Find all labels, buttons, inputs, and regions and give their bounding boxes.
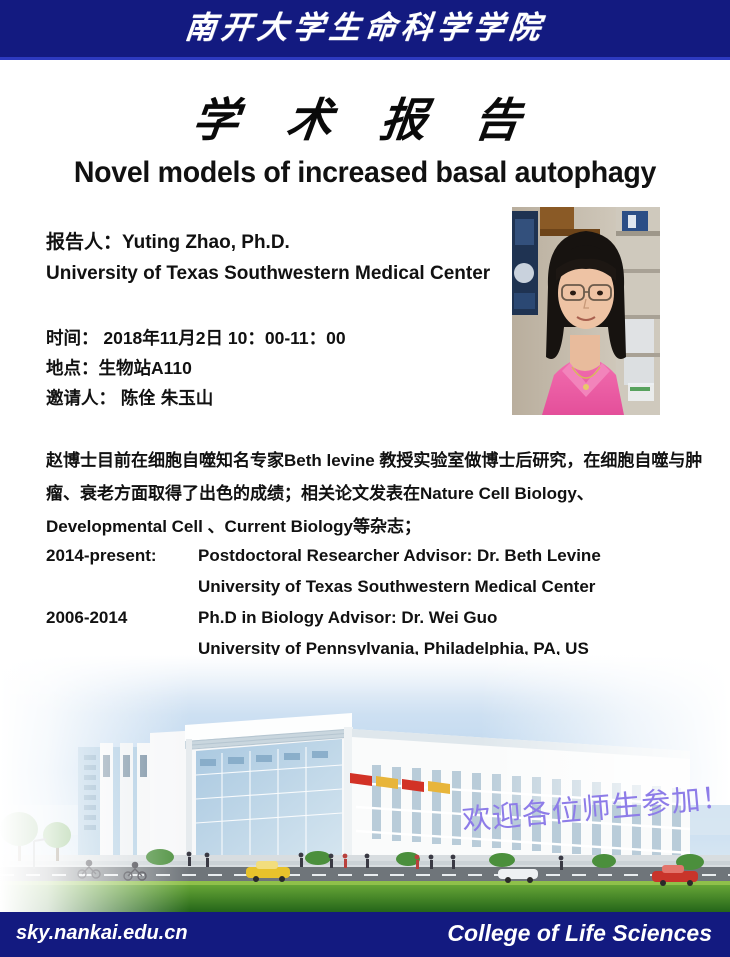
speaker-block: 报告人：Yuting Zhao, Ph.D. University of Tex… (46, 228, 516, 290)
cv-row: 2006-2014 Ph.D in Biology Advisor: Dr. W… (46, 602, 726, 633)
speaker-photo (512, 207, 660, 415)
cv-years: 2006-2014 (46, 602, 198, 633)
speaker-bio: 赵博士目前在细胞自噬知名专家Beth levine 教授实验室做博士后研究，在细… (46, 444, 706, 543)
cv-row: University of Texas Southwestern Medical… (46, 571, 726, 602)
footer-website-url[interactable]: sky.nankai.edu.cn (16, 922, 188, 945)
page-title: Novel models of increased basal autophag… (18, 156, 712, 190)
cv-years (46, 571, 198, 602)
event-details: 时间： 2018年11月2日 10：00-11：00 地点：生物站A110 邀请… (46, 323, 516, 413)
footer-bar: sky.nankai.edu.cn College of Life Scienc… (0, 912, 730, 957)
institution-title: 南开大学生命科学学院 (0, 6, 730, 50)
event-location: 地点：生物站A110 (46, 353, 516, 383)
cv-years: 2014-present: (46, 540, 198, 571)
cv-text: Ph.D in Biology Advisor: Dr. Wei Guo (198, 602, 726, 633)
cv-text: University of Texas Southwestern Medical… (198, 571, 726, 602)
footer-college-name: College of Life Sciences (447, 920, 712, 947)
seminar-poster: 南开大学生命科学学院 学 术 报 告 Novel models of incre… (0, 0, 730, 957)
header-accent-line (0, 57, 730, 60)
event-host: 邀请人： 陈佺 朱玉山 (46, 383, 516, 413)
header-banner: 南开大学生命科学学院 (0, 0, 730, 60)
chinese-heading: 学 术 报 告 (0, 84, 730, 150)
cv-row: 2014-present: Postdoctoral Researcher Ad… (46, 540, 726, 571)
cv-text: Postdoctoral Researcher Advisor: Dr. Bet… (198, 540, 726, 571)
speaker-affiliation: University of Texas Southwestern Medical… (46, 258, 516, 290)
event-time: 时间： 2018年11月2日 10：00-11：00 (46, 323, 516, 353)
speaker-name: 报告人：Yuting Zhao, Ph.D. (46, 228, 516, 258)
